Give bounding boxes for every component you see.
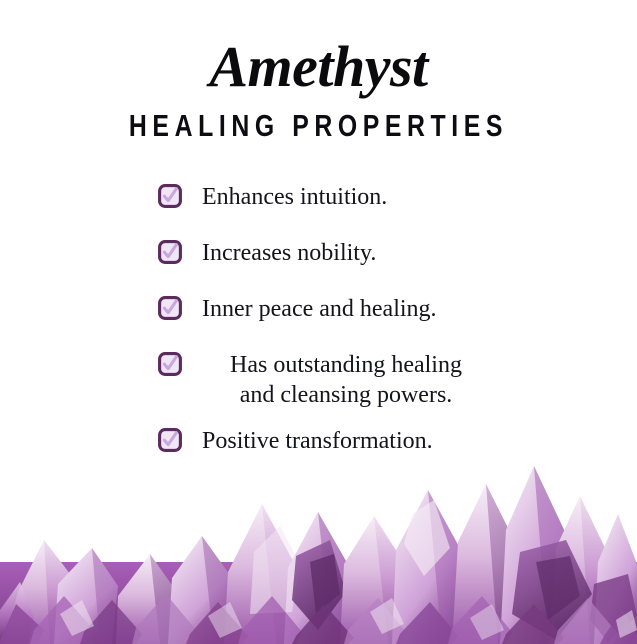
checkbox-checked-icon bbox=[158, 240, 182, 264]
page-title: Amethyst bbox=[0, 38, 637, 96]
checkbox-checked-icon bbox=[158, 296, 182, 320]
healing-properties-list: Enhances intuition. Increases nobility. … bbox=[0, 182, 637, 482]
list-item: Enhances intuition. bbox=[0, 182, 637, 216]
checkbox-checked-icon bbox=[158, 184, 182, 208]
list-item: Increases nobility. bbox=[0, 238, 637, 272]
list-item: Inner peace and healing. bbox=[0, 294, 637, 328]
list-item-label: Enhances intuition. bbox=[202, 182, 637, 212]
list-item-label: Has outstanding healing and cleansing po… bbox=[196, 350, 496, 410]
page-subtitle: HEALING PROPERTIES bbox=[64, 110, 574, 141]
amethyst-crystal-cluster-photo bbox=[0, 444, 637, 644]
list-item-label: Increases nobility. bbox=[202, 238, 637, 268]
checkbox-checked-icon bbox=[158, 352, 182, 376]
list-item-label: Inner peace and healing. bbox=[202, 294, 637, 324]
list-item: Has outstanding healing and cleansing po… bbox=[0, 350, 637, 410]
amethyst-healing-properties-poster: Amethyst HEALING PROPERTIES Enhances int… bbox=[0, 0, 637, 644]
header: Amethyst HEALING PROPERTIES bbox=[0, 0, 637, 141]
